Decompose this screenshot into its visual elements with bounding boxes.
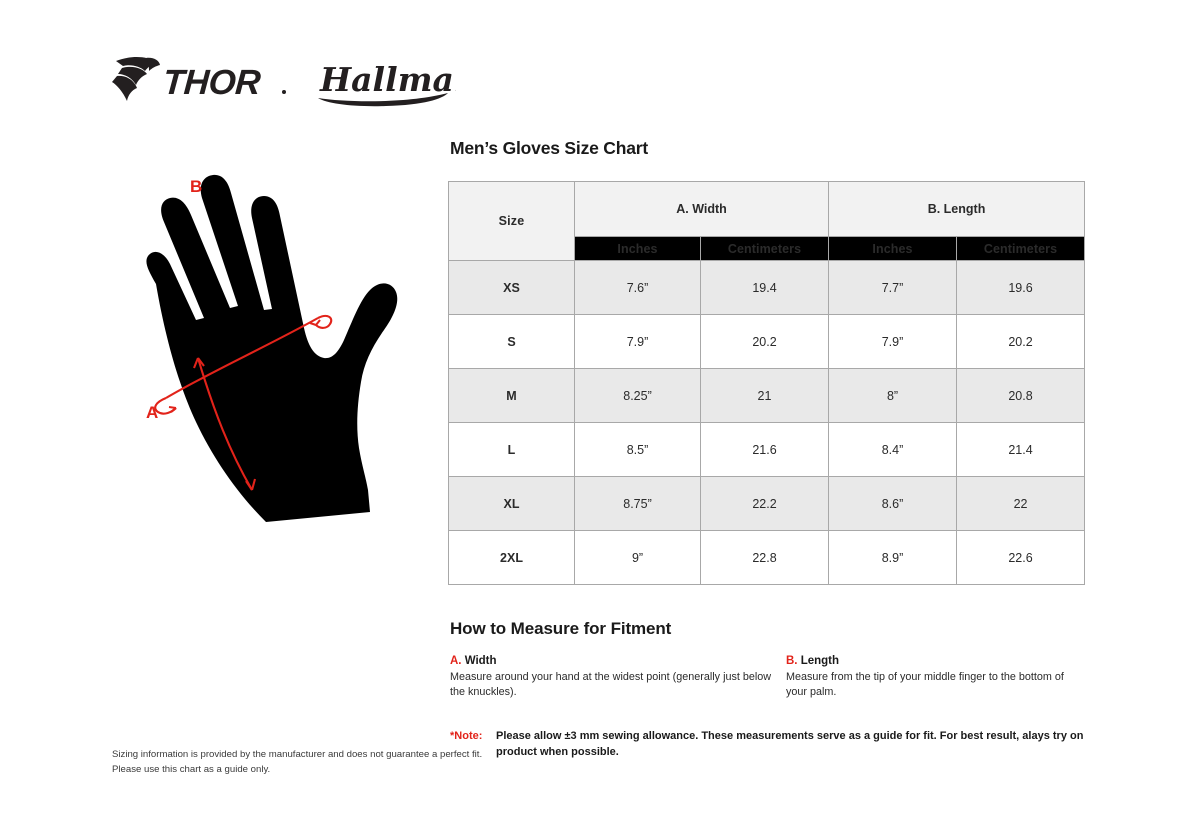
table-row: XL 8.75” 22.2 8.6” 22 xyxy=(449,477,1085,531)
cell-width-inches: 8.75” xyxy=(575,477,701,531)
note-text: Please allow ±3 mm sewing allowance. The… xyxy=(496,729,1086,761)
cell-length-inches: 7.9” xyxy=(829,315,957,369)
table-row: S 7.9” 20.2 7.9” 20.2 xyxy=(449,315,1085,369)
cell-size: XL xyxy=(449,477,575,531)
cell-length-centimeters: 21.4 xyxy=(957,423,1085,477)
table-head: Size A. Width B. Length Inches Centimete… xyxy=(449,182,1085,261)
cell-length-centimeters: 22.6 xyxy=(957,531,1085,585)
cell-width-centimeters: 22.2 xyxy=(701,477,829,531)
cell-width-centimeters: 20.2 xyxy=(701,315,829,369)
column-header-width-inches: Inches xyxy=(575,237,701,261)
hand-measurement-diagram: B A xyxy=(118,160,428,550)
measure-item-length: B. Length Measure from the tip of your m… xyxy=(786,655,1086,701)
measure-description-width: Measure around your hand at the widest p… xyxy=(450,670,774,701)
column-header-size: Size xyxy=(449,182,575,261)
table-header-row-groups: Size A. Width B. Length xyxy=(449,182,1085,237)
figure-label-b: B xyxy=(190,177,202,196)
svg-text:Hallman: Hallman xyxy=(319,60,456,99)
cell-size: M xyxy=(449,369,575,423)
brand-logo-bar: THOR Hallman xyxy=(112,50,532,112)
size-chart-panel: Men’s Gloves Size Chart Size A. Width B.… xyxy=(448,138,1088,761)
how-to-measure-title: How to Measure for Fitment xyxy=(450,619,1088,639)
measure-name-width: Width xyxy=(465,655,497,667)
cell-length-inches: 8.6” xyxy=(829,477,957,531)
measure-letter-b: B. xyxy=(786,655,798,667)
table-row: 2XL 9” 22.8 8.9” 22.6 xyxy=(449,531,1085,585)
cell-size: L xyxy=(449,423,575,477)
cell-length-inches: 8” xyxy=(829,369,957,423)
cell-width-inches: 8.25” xyxy=(575,369,701,423)
column-header-width-centimeters: Centimeters xyxy=(701,237,829,261)
cell-width-inches: 7.6” xyxy=(575,261,701,315)
measure-name-length: Length xyxy=(801,655,839,667)
page-title: Men’s Gloves Size Chart xyxy=(450,138,1088,159)
cell-width-centimeters: 19.4 xyxy=(701,261,829,315)
cell-size: XS xyxy=(449,261,575,315)
figure-label-a: A xyxy=(146,403,158,422)
table-row: M 8.25” 21 8” 20.8 xyxy=(449,369,1085,423)
cell-width-centimeters: 21.6 xyxy=(701,423,829,477)
cell-length-centimeters: 19.6 xyxy=(957,261,1085,315)
measure-item-width: A. Width Measure around your hand at the… xyxy=(450,655,786,701)
measure-item-heading: B. Length xyxy=(786,655,1086,667)
cell-width-inches: 8.5” xyxy=(575,423,701,477)
cell-length-inches: 8.4” xyxy=(829,423,957,477)
measure-description-length: Measure from the tip of your middle fing… xyxy=(786,670,1086,701)
cell-length-centimeters: 22 xyxy=(957,477,1085,531)
measure-letter-a: A. xyxy=(450,655,462,667)
column-header-width: A. Width xyxy=(575,182,829,237)
how-to-measure-section: How to Measure for Fitment A. Width Meas… xyxy=(450,619,1088,701)
column-header-length: B. Length xyxy=(829,182,1085,237)
column-header-length-centimeters: Centimeters xyxy=(957,237,1085,261)
svg-text:THOR: THOR xyxy=(162,63,263,102)
table-row: L 8.5” 21.6 8.4” 21.4 xyxy=(449,423,1085,477)
measure-item-heading: A. Width xyxy=(450,655,774,667)
cell-length-centimeters: 20.2 xyxy=(957,315,1085,369)
table-row: XS 7.6” 19.4 7.7” 19.6 xyxy=(449,261,1085,315)
footer-disclaimer: Sizing information is provided by the ma… xyxy=(112,748,482,778)
cell-width-centimeters: 21 xyxy=(701,369,829,423)
cell-width-inches: 7.9” xyxy=(575,315,701,369)
cell-length-inches: 7.7” xyxy=(829,261,957,315)
size-chart-table: Size A. Width B. Length Inches Centimete… xyxy=(448,181,1085,585)
hallman-logo: Hallman xyxy=(314,55,456,107)
cell-size: 2XL xyxy=(449,531,575,585)
footer-line-1: Sizing information is provided by the ma… xyxy=(112,748,482,763)
thor-logo: THOR xyxy=(112,54,288,108)
note-label: *Note: xyxy=(450,729,496,745)
cell-length-inches: 8.9” xyxy=(829,531,957,585)
cell-width-centimeters: 22.8 xyxy=(701,531,829,585)
table-body: XS 7.6” 19.4 7.7” 19.6 S 7.9” 20.2 7.9” … xyxy=(449,261,1085,585)
note-section: *Note: Please allow ±3 mm sewing allowan… xyxy=(450,729,1088,761)
cell-length-centimeters: 20.8 xyxy=(957,369,1085,423)
column-header-length-inches: Inches xyxy=(829,237,957,261)
footer-line-2: Please use this chart as a guide only. xyxy=(112,763,482,778)
cell-width-inches: 9” xyxy=(575,531,701,585)
cell-size: S xyxy=(449,315,575,369)
